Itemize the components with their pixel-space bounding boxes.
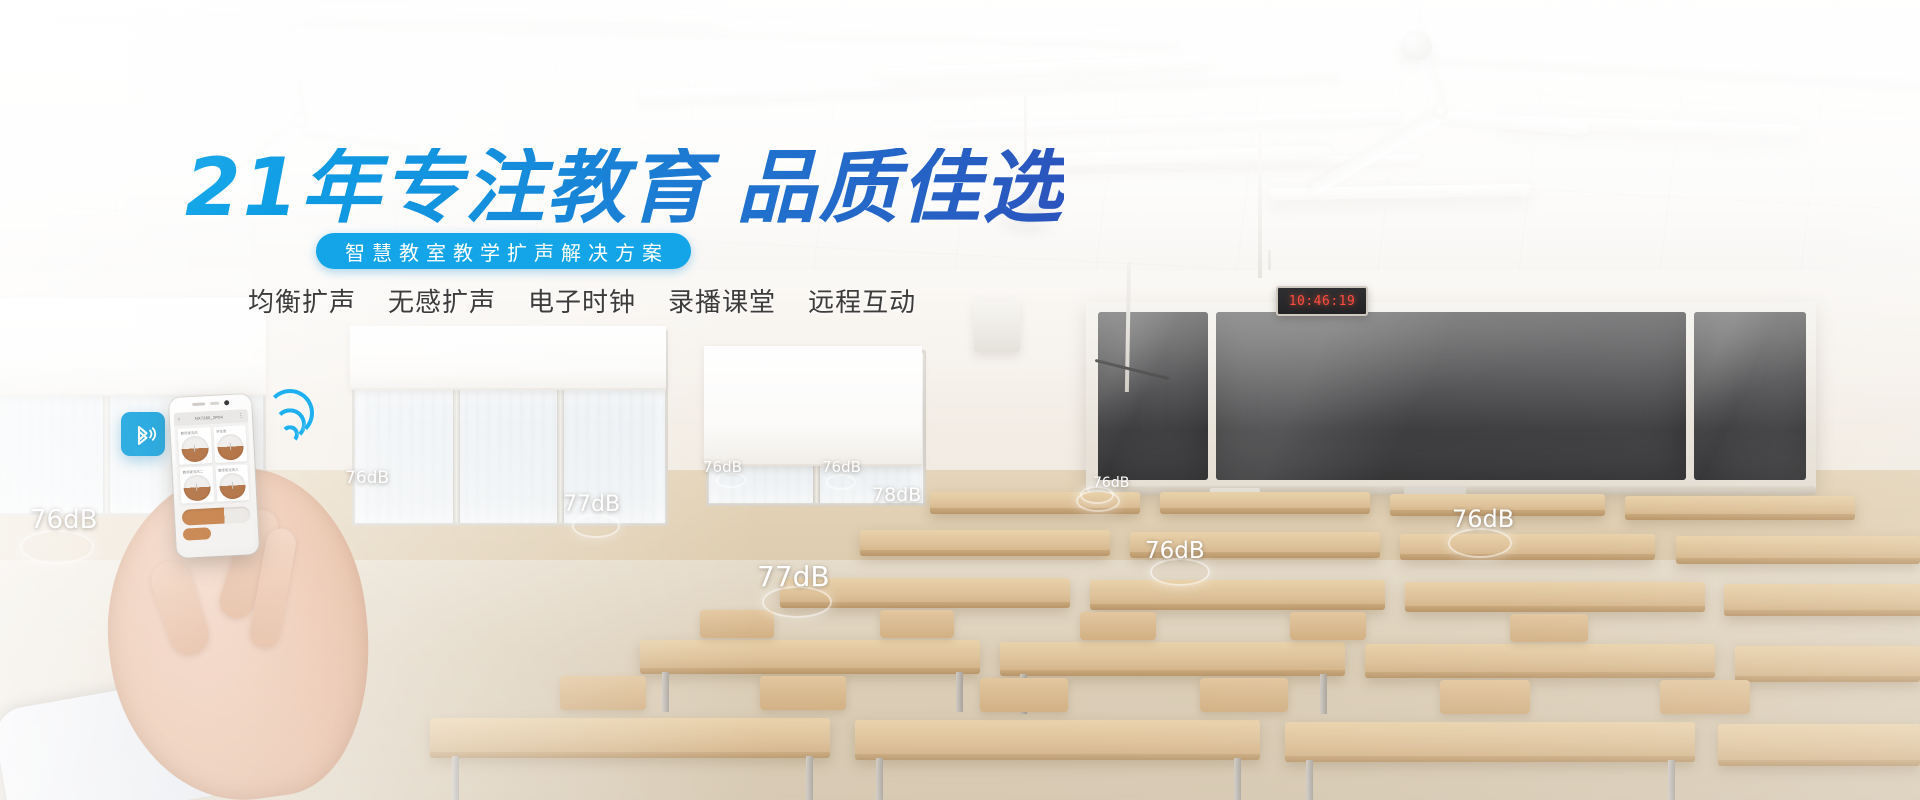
db-label: 76dB: [1093, 475, 1129, 491]
channel-label: 教师麦克风三: [218, 467, 239, 473]
subtitle-pill-label: 智慧教室教学扩声解决方案: [338, 237, 669, 266]
volume-slider[interactable]: [182, 506, 251, 526]
banner-stage: 10:46:19 21年专注教育品质佳选 智慧教室教学扩声解决方案 均衡扩声 无…: [0, 0, 1920, 800]
channel-card[interactable]: 教师麦克风: [177, 427, 211, 465]
channel-label: 教师麦克风: [181, 430, 198, 436]
app-title: NX7360_2P04: [195, 414, 223, 420]
feature-item-1: 无感扩声: [388, 282, 496, 319]
chevron-left-icon[interactable]: ‹: [178, 416, 180, 422]
db-label: 76dB: [1452, 505, 1514, 533]
knob-dial[interactable]: [183, 474, 211, 501]
earpiece: [192, 402, 205, 406]
db-label: 77dB: [563, 492, 620, 517]
channel-card[interactable]: 教师麦克风二: [180, 466, 214, 504]
channel-grid: 教师麦克风 学生麦 教师麦克风二 教师麦克风三: [174, 422, 252, 507]
db-label: 76dB: [822, 458, 861, 476]
headline-main: 21年专注教育: [185, 141, 710, 234]
headline-accent: 品质佳选: [736, 141, 1064, 234]
feature-list: 均衡扩声 无感扩声 电子时钟 录播课堂 远程互动: [248, 282, 916, 319]
feature-item-3: 录播课堂: [668, 282, 776, 319]
feature-item-2: 电子时钟: [528, 282, 636, 319]
subtitle-pill: 智慧教室教学扩声解决方案: [316, 233, 691, 269]
sensor: [210, 402, 219, 405]
more-vertical-icon[interactable]: ⋮: [238, 413, 244, 419]
db-label: 77dB: [757, 560, 830, 593]
channel-label: 教师麦克风二: [183, 469, 204, 475]
db-label: 76dB: [345, 468, 389, 488]
knob-dial[interactable]: [181, 435, 209, 462]
db-label: 76dB: [703, 458, 742, 476]
db-label: 76dB: [1145, 538, 1205, 564]
channel-label: 学生麦: [216, 428, 226, 434]
smartphone[interactable]: ‹ NX7360_2P04 ⋮ 教师麦克风 学生麦 教师麦克风二 教: [169, 394, 259, 558]
bluetooth-icon: [121, 412, 165, 456]
front-camera: [224, 400, 229, 405]
page-title: 21年专注教育品质佳选: [185, 148, 1064, 228]
channel-card[interactable]: 学生麦: [213, 425, 247, 463]
feature-item-4: 远程互动: [808, 282, 916, 319]
knob-dial[interactable]: [216, 433, 244, 460]
db-label: 78dB: [872, 484, 921, 506]
action-button[interactable]: [183, 527, 212, 540]
channel-card[interactable]: 教师麦克风三: [215, 464, 249, 502]
knob-dial[interactable]: [218, 472, 246, 499]
phone-screen[interactable]: ‹ NX7360_2P04 ⋮ 教师麦克风 学生麦 教师麦克风二 教: [174, 409, 255, 551]
feature-item-0: 均衡扩声: [248, 282, 356, 319]
db-label: 76dB: [30, 505, 97, 535]
